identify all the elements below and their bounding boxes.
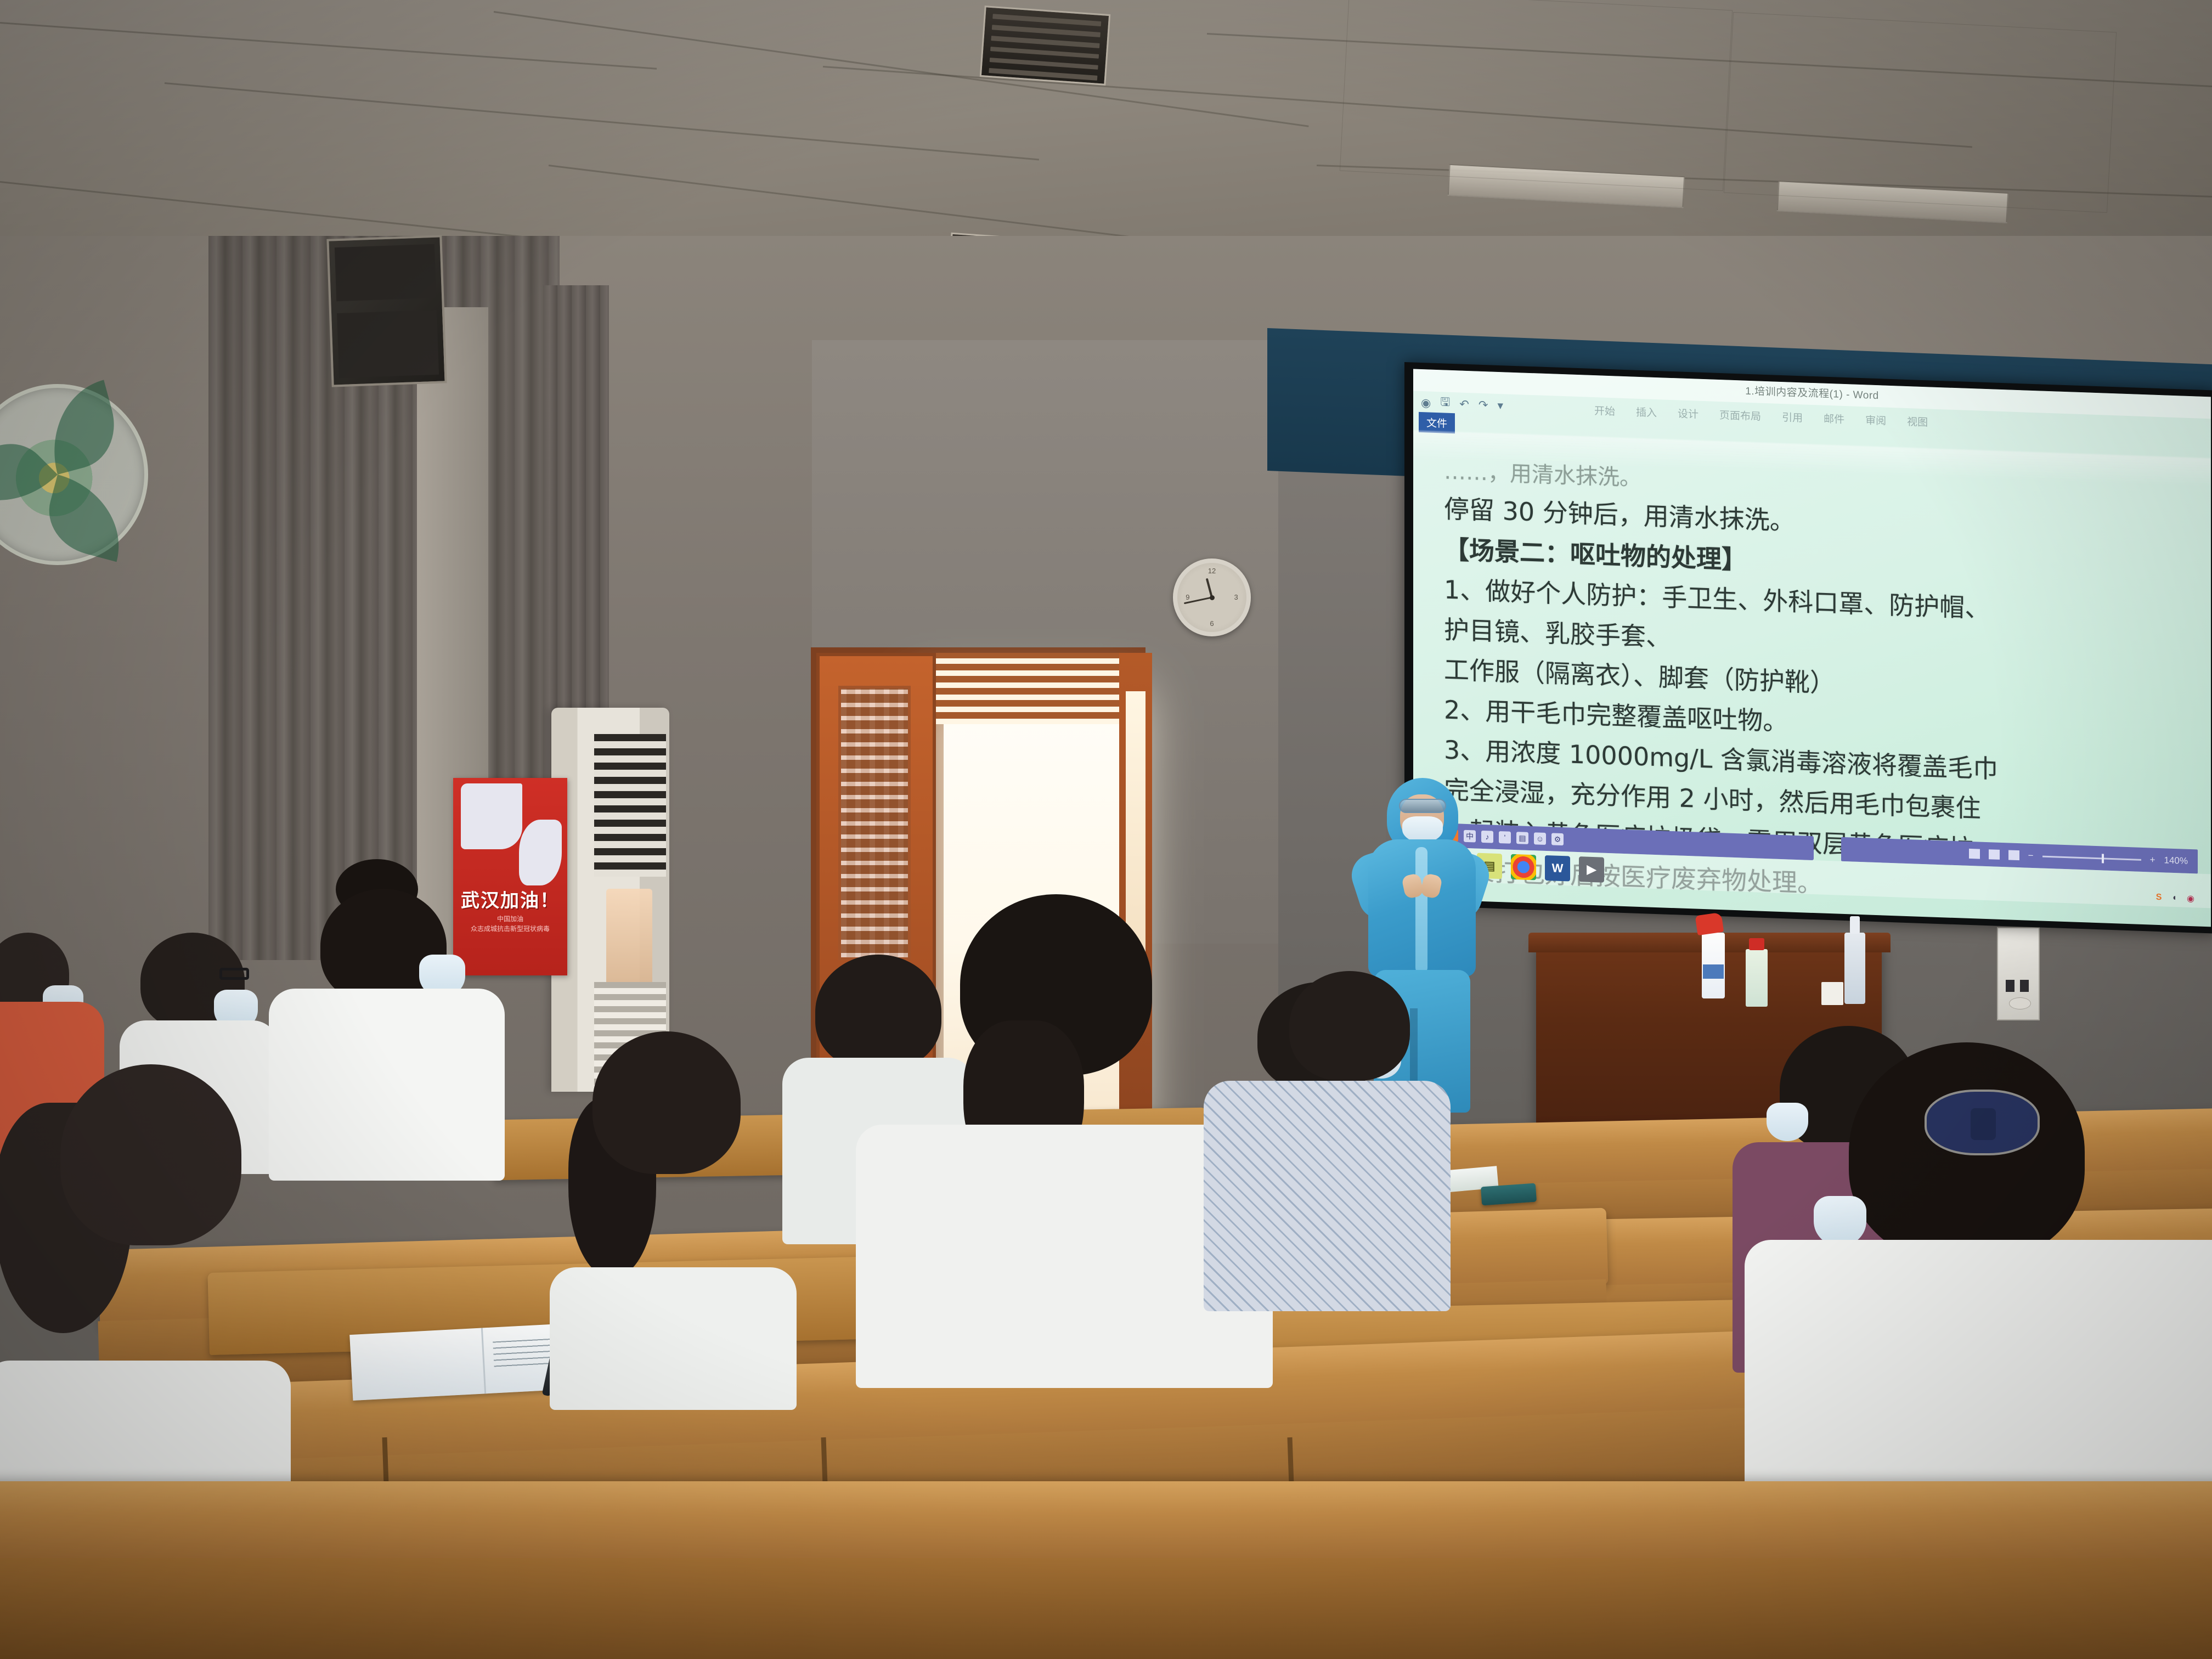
lecture-hall-photo: 12 3 6 9 武汉加油！ 中国加油 众志成城抗击新型冠状病毒 xyxy=(0,0,2212,1659)
wall-control-panel[interactable] xyxy=(1997,927,2040,1020)
zoom-in-icon[interactable]: + xyxy=(2150,854,2155,865)
stage-curtain-secondary xyxy=(543,285,609,779)
goggles-icon xyxy=(1399,799,1446,813)
tab-view[interactable]: 视图 xyxy=(1907,414,1928,431)
smartphone xyxy=(1481,1183,1537,1206)
attendee-3 xyxy=(274,867,505,1174)
ppe-zipper xyxy=(1415,847,1427,973)
zoom-out-icon[interactable]: − xyxy=(2028,850,2034,861)
tab-references[interactable]: 引用 xyxy=(1782,409,1803,427)
undo-icon[interactable]: ↶ xyxy=(1459,398,1469,412)
web-layout-icon[interactable] xyxy=(2008,850,2019,860)
punctuation-icon[interactable]: ' xyxy=(1499,831,1511,844)
attendee-4 xyxy=(5,1064,291,1481)
tab-design[interactable]: 设计 xyxy=(1678,405,1699,423)
door-transom-grille xyxy=(936,653,1129,724)
hair-bow-knot xyxy=(1971,1108,1996,1140)
sanitizer-pump xyxy=(1850,916,1860,934)
attendee-5 xyxy=(560,1031,790,1383)
light-switch-2[interactable] xyxy=(2020,980,2029,992)
tab-insert[interactable]: 插入 xyxy=(1636,404,1657,422)
surgical-mask-icon xyxy=(1402,816,1443,843)
ceiling-vent-icon xyxy=(980,5,1111,86)
tab-review[interactable]: 审阅 xyxy=(1865,412,1886,430)
zoom-level-label: 140% xyxy=(2164,855,2188,867)
tools-icon[interactable]: ⚙ xyxy=(1551,833,1564,845)
tab-page-layout[interactable]: 页面布局 xyxy=(1719,407,1761,426)
eyeglasses-icon xyxy=(219,968,249,980)
panel-icon[interactable]: ▤ xyxy=(1516,832,1528,844)
network-icon[interactable]: ◉ xyxy=(2187,893,2194,904)
smile-icon[interactable]: ☺ xyxy=(1534,832,1546,845)
light-switch-1[interactable] xyxy=(2006,980,2015,992)
wall-clock: 12 3 6 9 xyxy=(1173,558,1251,636)
bottle-cap xyxy=(1749,938,1764,950)
volume-icon[interactable]: ◖ xyxy=(2171,893,2177,903)
projector-screen: 1.培训内容及流程(1) - Word ◉ 🖫 ↶ ↷ ▾ 开始 插入 设计 页… xyxy=(1404,362,2212,934)
sogou-tray-icon[interactable]: S xyxy=(2156,893,2162,902)
front-bench-front xyxy=(0,1558,2212,1659)
water-bottle xyxy=(1746,949,1768,1007)
spray-trigger xyxy=(1695,912,1724,935)
zoom-slider[interactable] xyxy=(2042,855,2141,860)
attendee-9 xyxy=(1256,971,1443,1278)
redo-icon[interactable]: ↷ xyxy=(1479,398,1488,413)
tab-mailings[interactable]: 邮件 xyxy=(1824,411,1844,428)
front-bench-top xyxy=(0,1481,2212,1564)
tab-start[interactable]: 开始 xyxy=(1594,403,1615,420)
read-mode-icon[interactable] xyxy=(1989,849,2000,860)
wall-speaker-icon xyxy=(326,235,447,387)
word-logo-icon: ◉ xyxy=(1421,396,1431,410)
spray-bottle xyxy=(1702,933,1725,998)
control-dial[interactable] xyxy=(2009,997,2031,1009)
system-tray[interactable]: S ◖ ◉ xyxy=(2156,892,2194,904)
save-icon[interactable]: 🖫 xyxy=(1440,394,1450,414)
projected-slide: 1.培训内容及流程(1) - Word ◉ 🖫 ↶ ↷ ▾ 开始 插入 设计 页… xyxy=(1413,369,2211,927)
word-icon[interactable]: W xyxy=(1545,855,1570,882)
spray-bottle-label xyxy=(1703,964,1724,979)
media-player-icon[interactable]: ▶ xyxy=(1579,856,1604,883)
paper-cup xyxy=(1821,982,1843,1005)
print-layout-icon[interactable] xyxy=(1969,849,1980,859)
customize-qat-icon[interactable]: ▾ xyxy=(1497,399,1503,413)
chrome-icon[interactable] xyxy=(1511,854,1536,881)
hand-sanitizer-bottle xyxy=(1844,933,1865,1004)
